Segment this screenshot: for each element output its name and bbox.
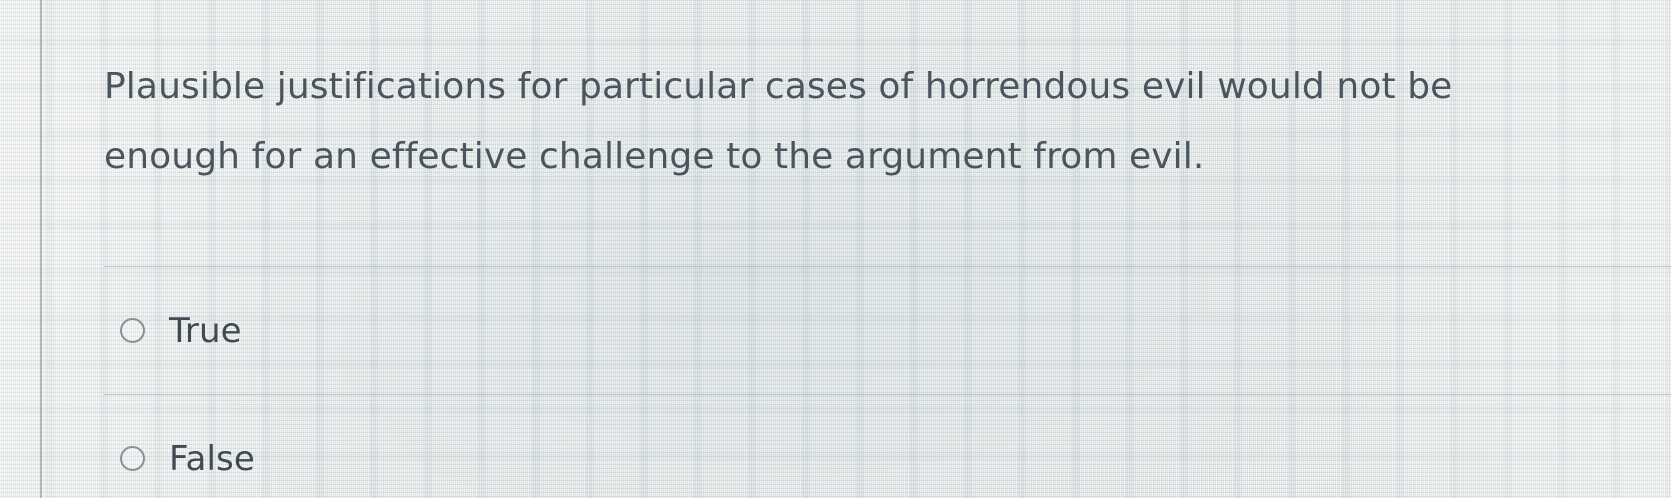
answer-options-list: True False <box>104 266 1671 498</box>
quiz-question-screen: Plausible justifications for particular … <box>0 0 1671 498</box>
question-prompt-line-2: enough for an effective challenge to the… <box>104 122 1671 192</box>
answer-option-true[interactable]: True <box>104 266 1671 394</box>
answer-option-false[interactable]: False <box>104 394 1671 498</box>
answer-option-false-label: False <box>169 442 255 476</box>
answer-option-true-label: True <box>169 314 242 348</box>
question-prompt-line-1: Plausible justifications for particular … <box>104 52 1671 122</box>
left-vertical-rule <box>40 0 42 498</box>
radio-button-false-icon[interactable] <box>120 446 145 471</box>
question-content: Plausible justifications for particular … <box>0 0 1671 498</box>
question-prompt: Plausible justifications for particular … <box>104 52 1671 192</box>
radio-button-true-icon[interactable] <box>120 318 145 343</box>
